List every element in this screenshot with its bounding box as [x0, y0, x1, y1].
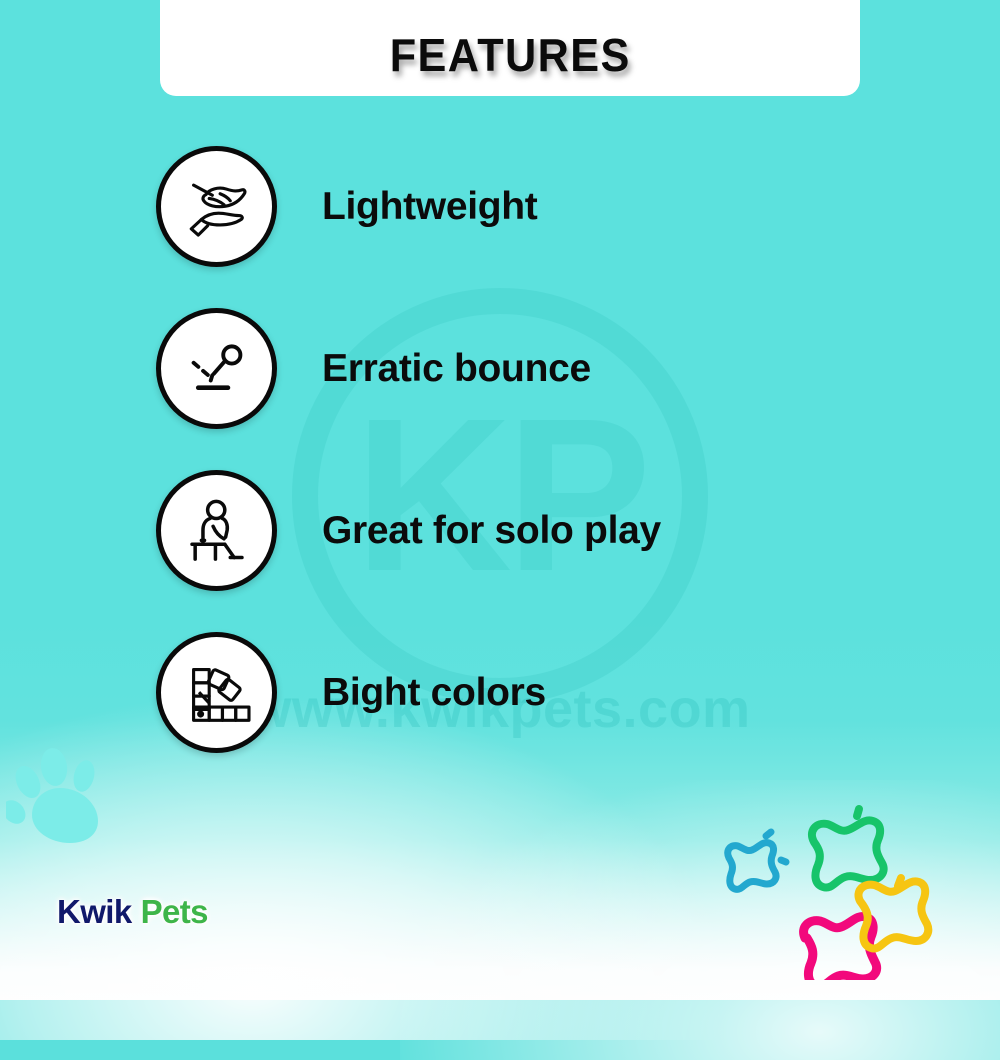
header-card: FEATURES	[160, 0, 860, 96]
person-on-bench-icon	[156, 470, 277, 591]
features-list: Lightweight Erratic bounce	[156, 146, 876, 794]
feature-label: Great for solo play	[322, 509, 661, 553]
product-toy-rings	[700, 798, 950, 980]
feather-on-hand-icon	[156, 146, 277, 267]
logo-pets: Pets	[141, 893, 208, 930]
brand-logo[interactable]: KwikPets	[57, 893, 208, 931]
bouncing-ball-icon	[156, 308, 277, 429]
feature-row: Bight colors	[156, 632, 876, 753]
toy-ring-blue	[728, 832, 786, 889]
color-swatch-fan-icon	[156, 632, 277, 753]
toy-ring-green	[812, 809, 884, 888]
feature-label: Lightweight	[322, 185, 538, 229]
feature-label: Bight colors	[322, 671, 546, 715]
page-title: FEATURES	[389, 28, 630, 82]
feature-row: Great for solo play	[156, 470, 876, 591]
logo-kwik: Kwik	[57, 893, 132, 930]
feature-row: Erratic bounce	[156, 308, 876, 429]
paw-print-icon	[6, 748, 118, 854]
feature-label: Erratic bounce	[322, 347, 591, 391]
feature-row: Lightweight	[156, 146, 876, 267]
